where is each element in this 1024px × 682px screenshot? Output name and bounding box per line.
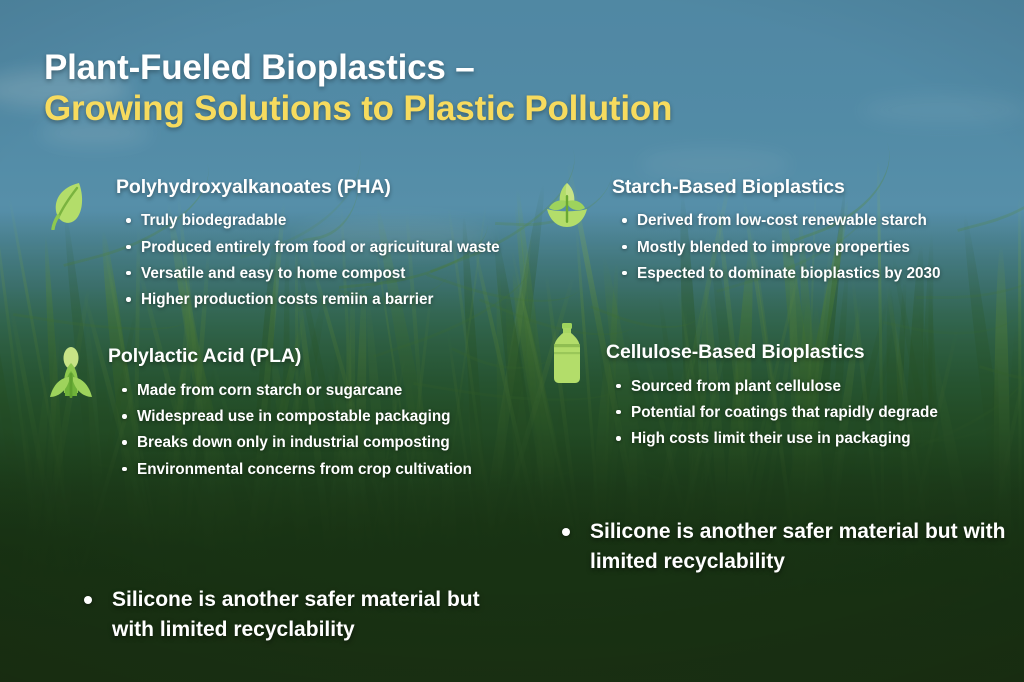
list-item: Produced entirely from food or agricuitu… — [124, 236, 524, 259]
list-item: Espected to dominate bioplastics by 2030 — [620, 262, 1024, 285]
section-starch-body: Starch-Based Bioplastics Derived from lo… — [612, 176, 1024, 285]
title-line-2: Growing Solutions to Plastic Pollution — [44, 89, 672, 130]
section-pha: Polyhydroxyalkanoates (PHA) Truly biodeg… — [44, 176, 524, 311]
bottle-icon — [540, 327, 594, 381]
list-item: Sourced from plant cellulose — [614, 375, 1024, 398]
infographic-poster: Plant-Fueled Bioplastics – Growing Solut… — [0, 0, 1024, 682]
list-item: High costs limit their use in packaging — [614, 427, 1024, 450]
poster-title: Plant-Fueled Bioplastics – Growing Solut… — [44, 48, 672, 129]
list-item: Made from corn starch or sugarcane — [120, 379, 524, 402]
sprout-icon — [540, 178, 594, 232]
list-item: Versatile and easy to home compost — [124, 262, 524, 285]
section-pla: Polylactic Acid (PLA) Made from corn sta… — [44, 345, 524, 480]
section-cellulose-bullets: Sourced from plant cellulose Potential f… — [614, 375, 1024, 451]
list-item: Truly biodegradable — [124, 209, 524, 232]
closing-statement-right: Silicone is another safer material but w… — [556, 517, 1006, 577]
poster-content: Plant-Fueled Bioplastics – Growing Solut… — [0, 0, 1024, 682]
corn-plant-icon — [44, 347, 98, 401]
section-cellulose-heading: Cellulose-Based Bioplastics — [606, 341, 1024, 364]
list-item: Environmental concerns from crop cultiva… — [120, 458, 524, 481]
list-item: Widespread use in compostable packaging — [120, 405, 524, 428]
section-pha-bullets: Truly biodegradable Produced entirely fr… — [124, 209, 524, 311]
left-column: Polyhydroxyalkanoates (PHA) Truly biodeg… — [44, 176, 524, 507]
list-item: Mostly blended to improve properties — [620, 236, 1024, 259]
section-pha-heading: Polyhydroxyalkanoates (PHA) — [116, 176, 524, 199]
right-column: Starch-Based Bioplastics Derived from lo… — [540, 176, 1024, 476]
section-pha-body: Polyhydroxyalkanoates (PHA) Truly biodeg… — [116, 176, 524, 311]
section-cellulose: Cellulose-Based Bioplastics Sourced from… — [540, 341, 1024, 450]
leaf-icon — [44, 178, 98, 232]
section-starch: Starch-Based Bioplastics Derived from lo… — [540, 176, 1024, 285]
section-pla-heading: Polylactic Acid (PLA) — [108, 345, 524, 368]
list-item: Derived from low-cost renewable starch — [620, 209, 1024, 232]
list-item: Breaks down only in industrial compostin… — [120, 431, 524, 454]
closing-statement-left: Silicone is another safer material but w… — [78, 585, 508, 645]
list-item: Potential for coatings that rapidly degr… — [614, 401, 1024, 424]
title-line-1: Plant-Fueled Bioplastics – — [44, 48, 672, 89]
section-cellulose-body: Cellulose-Based Bioplastics Sourced from… — [606, 341, 1024, 450]
section-starch-heading: Starch-Based Bioplastics — [612, 176, 1024, 199]
section-pla-body: Polylactic Acid (PLA) Made from corn sta… — [108, 345, 524, 480]
section-pla-bullets: Made from corn starch or sugarcane Wides… — [120, 379, 524, 481]
section-starch-bullets: Derived from low-cost renewable starch M… — [620, 209, 1024, 285]
list-item: Higher production costs remiin a barrier — [124, 288, 524, 311]
